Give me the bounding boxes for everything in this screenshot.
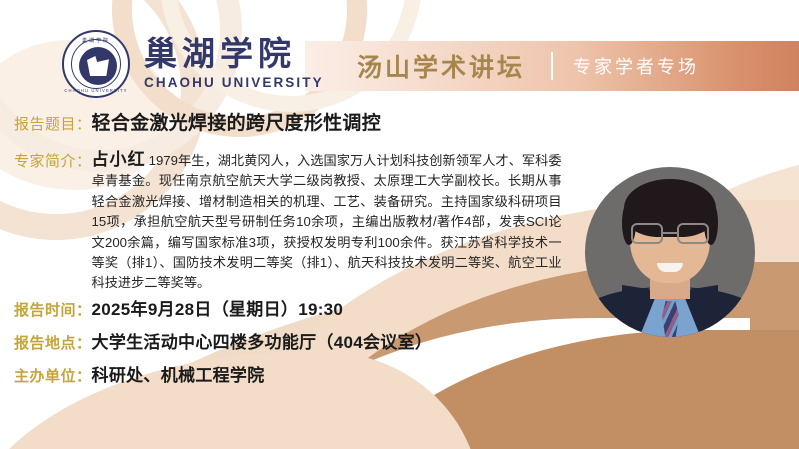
- label-speaker-bio: 专家简介：: [14, 150, 92, 171]
- label-report-place: 报告地点：: [14, 332, 92, 353]
- label-report-time: 报告时间：: [14, 299, 92, 320]
- speaker-bio-body: 占小红1979年生，湖北黄冈人，入选国家万人计划科技创新领军人才、军科委卓青基金…: [92, 150, 562, 294]
- row-report-time: 报告时间： 2025年9月28日（星期日）19:30: [14, 295, 343, 320]
- poster-canvas: 汤山学术讲坛 专家学者专场 巢湖学院 1977 CHAOHU UNIVERSIT…: [0, 0, 799, 449]
- label-host-unit: 主办单位：: [14, 365, 92, 386]
- speaker-bio-text: 1979年生，湖北黄冈人，入选国家万人计划科技创新领军人才、军科委卓青基金。现任…: [92, 153, 562, 290]
- row-report-title: 报告题目： 轻合金激光焊接的跨尺度形性调控: [14, 108, 381, 135]
- speaker-name: 占小红: [92, 150, 146, 169]
- poster-content: 报告题目： 轻合金激光焊接的跨尺度形性调控 专家简介： 占小红1979年生，湖北…: [0, 0, 799, 449]
- value-host-unit: 科研处、机械工程学院: [92, 361, 265, 386]
- row-report-place: 报告地点： 大学生活动中心四楼多功能厅（404会议室）: [14, 328, 432, 353]
- value-report-title: 轻合金激光焊接的跨尺度形性调控: [92, 108, 382, 135]
- value-report-place: 大学生活动中心四楼多功能厅（404会议室）: [92, 328, 433, 353]
- row-speaker-bio: 专家简介： 占小红1979年生，湖北黄冈人，入选国家万人计划科技创新领军人才、军…: [14, 150, 562, 294]
- label-report-title: 报告题目：: [14, 113, 92, 134]
- value-report-time: 2025年9月28日（星期日）19:30: [92, 295, 344, 320]
- row-host-unit: 主办单位： 科研处、机械工程学院: [14, 361, 265, 386]
